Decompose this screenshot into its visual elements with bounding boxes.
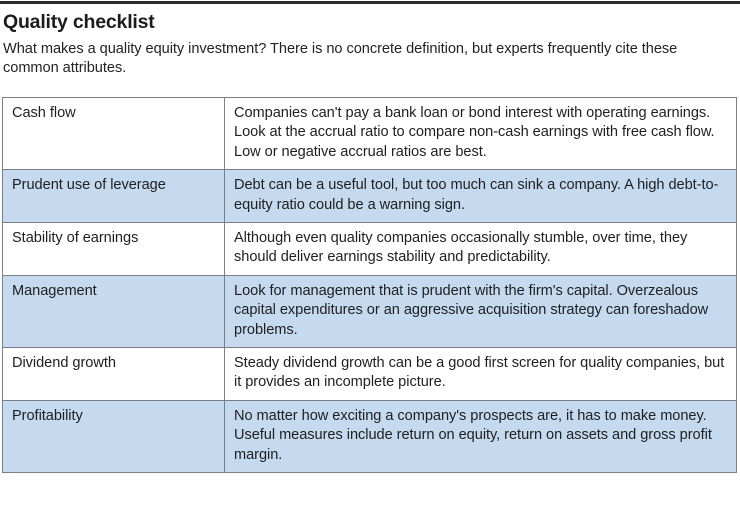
quality-checklist-table: Cash flow Companies can't pay a bank loa… [2, 97, 737, 473]
quality-checklist-page: Quality checklist What makes a quality e… [0, 0, 740, 526]
attribute-cell: Management [3, 275, 225, 347]
description-cell: Although even quality companies occasion… [225, 223, 737, 276]
description-cell: Companies can't pay a bank loan or bond … [225, 98, 737, 170]
description-cell: Debt can be a useful tool, but too much … [225, 170, 737, 223]
page-header: Quality checklist What makes a quality e… [3, 10, 733, 78]
table-row: Stability of earnings Although even qual… [3, 223, 737, 276]
description-cell: Steady dividend growth can be a good fir… [225, 348, 737, 401]
table-body: Cash flow Companies can't pay a bank loa… [3, 98, 737, 473]
description-cell: Look for management that is prudent with… [225, 275, 737, 347]
attribute-cell: Profitability [3, 400, 225, 472]
table-row: Prudent use of leverage Debt can be a us… [3, 170, 737, 223]
table-row: Profitability No matter how exciting a c… [3, 400, 737, 472]
attribute-cell: Dividend growth [3, 348, 225, 401]
intro-paragraph: What makes a quality equity investment? … [3, 40, 709, 78]
attribute-cell: Cash flow [3, 98, 225, 170]
page-title: Quality checklist [3, 10, 733, 34]
table-row: Dividend growth Steady dividend growth c… [3, 348, 737, 401]
table-row: Cash flow Companies can't pay a bank loa… [3, 98, 737, 170]
attribute-cell: Stability of earnings [3, 223, 225, 276]
table-row: Management Look for management that is p… [3, 275, 737, 347]
attribute-cell: Prudent use of leverage [3, 170, 225, 223]
top-divider-rule [0, 1, 740, 4]
description-cell: No matter how exciting a company's prosp… [225, 400, 737, 472]
